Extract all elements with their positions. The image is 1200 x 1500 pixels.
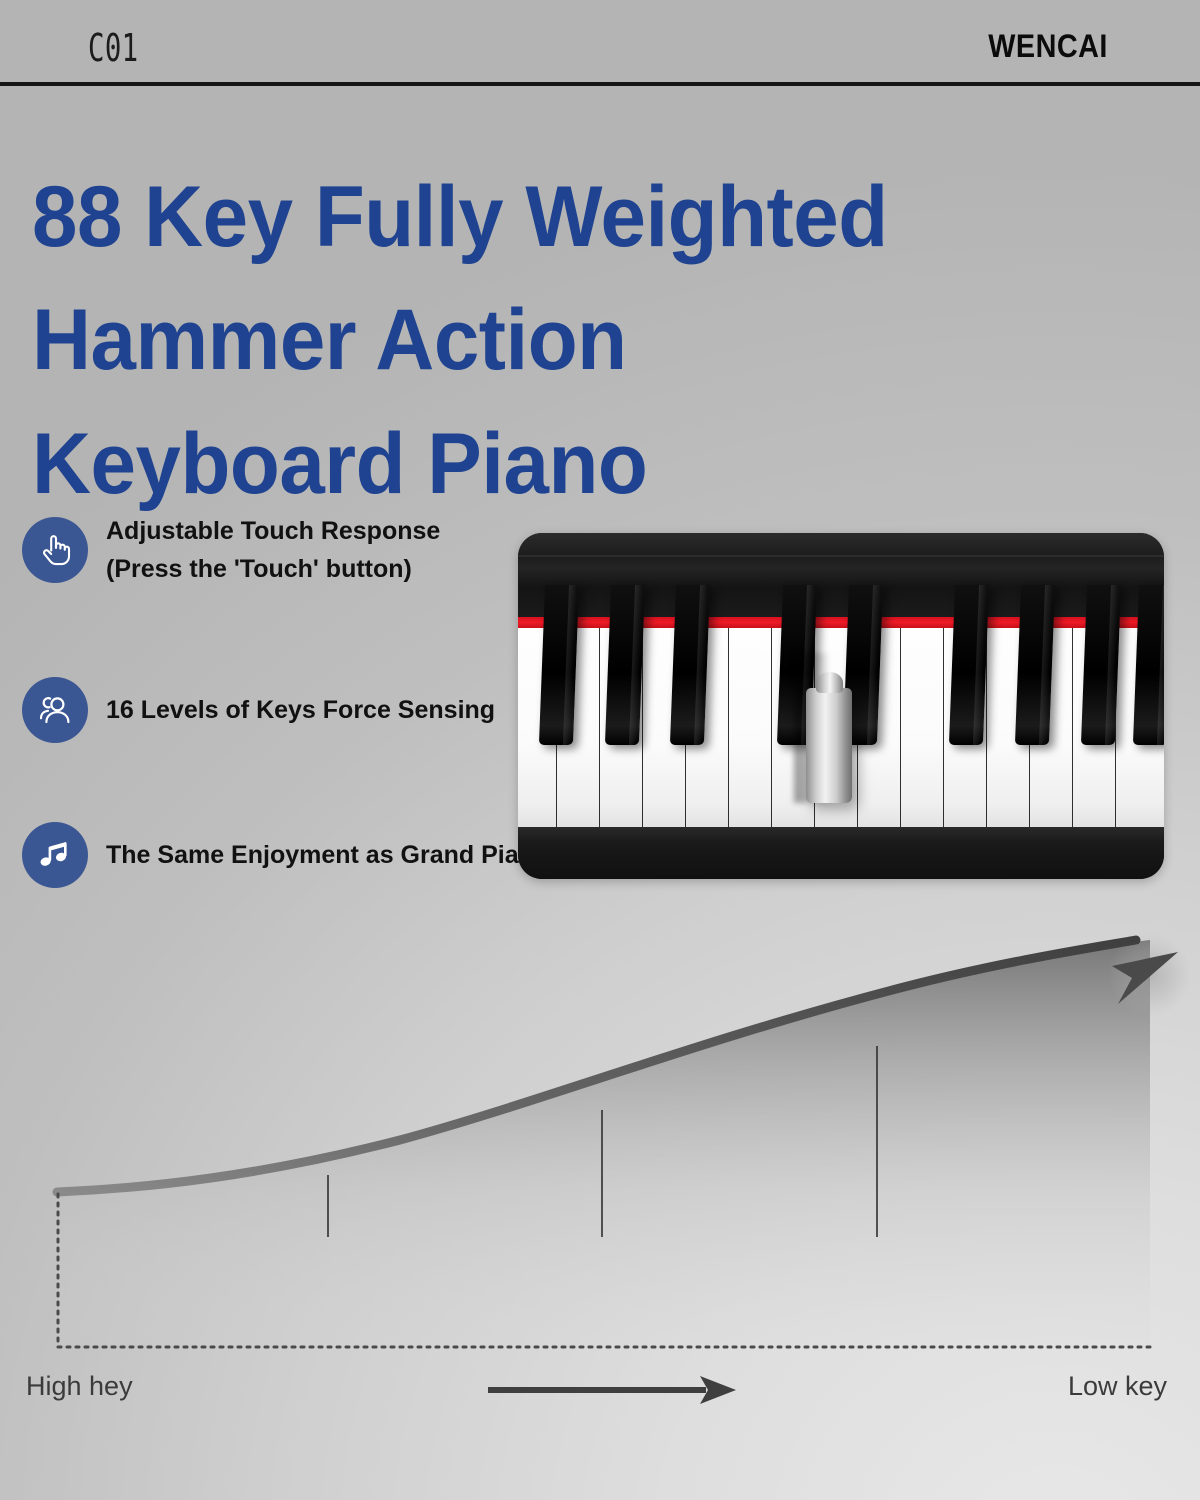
pointing-hand-icon [22, 517, 88, 583]
white-key-divider [599, 628, 600, 828]
white-key-divider [728, 628, 729, 828]
white-key-divider [1072, 628, 1073, 828]
chart-label-high-key: High hey [26, 1371, 133, 1402]
chart-area-fill [57, 940, 1150, 1345]
feature-label-force-sensing: 16 Levels of Keys Force Sensing [106, 691, 495, 729]
black-key [670, 585, 710, 745]
feature-label-grand-piano: The Same Enjoyment as Grand Piano [106, 836, 549, 874]
feature-text-line: (Press the 'Touch' button) [106, 550, 440, 588]
metal-weight-cylinder [806, 688, 852, 803]
chart-direction-arrow-icon [484, 1372, 742, 1413]
users-icon [22, 677, 88, 743]
white-key-divider [900, 628, 901, 828]
feature-text-line: 16 Levels of Keys Force Sensing [106, 691, 495, 729]
brand-name: WENCAI [989, 28, 1108, 65]
page-title: 88 Key Fully Weighted Hammer Action Keyb… [32, 156, 1106, 527]
black-key [1081, 585, 1121, 745]
header-divider [0, 82, 1200, 86]
headline-line-3: Keyboard Piano [32, 403, 1106, 527]
product-code: C01 [88, 26, 139, 70]
black-key [1015, 585, 1055, 745]
feature-text-line: Adjustable Touch Response [106, 512, 440, 550]
black-key [949, 585, 989, 745]
black-key [539, 585, 579, 745]
product-photo-keyboard [518, 533, 1164, 879]
headline-line-1: 88 Key Fully Weighted [32, 156, 1106, 280]
black-key [1133, 585, 1164, 745]
white-key-divider [771, 628, 772, 828]
black-key [605, 585, 645, 745]
feature-item-touch-response: Adjustable Touch Response (Press the 'To… [22, 512, 440, 588]
feature-item-force-sensing: 16 Levels of Keys Force Sensing [22, 677, 495, 743]
page-header: C01 WENCAI [0, 0, 1200, 84]
piano-cabinet-bottom [518, 827, 1164, 879]
key-force-chart [0, 930, 1200, 1410]
infographic-page: C01 WENCAI 88 Key Fully Weighted Hammer … [0, 0, 1200, 1500]
feature-item-grand-piano: The Same Enjoyment as Grand Piano [22, 822, 549, 888]
feature-label-touch-response: Adjustable Touch Response (Press the 'To… [106, 512, 440, 588]
headline-line-2: Hammer Action [32, 279, 1106, 403]
metal-weight-knob [816, 672, 843, 693]
chart-label-low-key: Low key [1068, 1371, 1167, 1402]
feature-text-line: The Same Enjoyment as Grand Piano [106, 836, 549, 874]
white-key-divider [943, 628, 944, 828]
music-note-icon [22, 822, 88, 888]
